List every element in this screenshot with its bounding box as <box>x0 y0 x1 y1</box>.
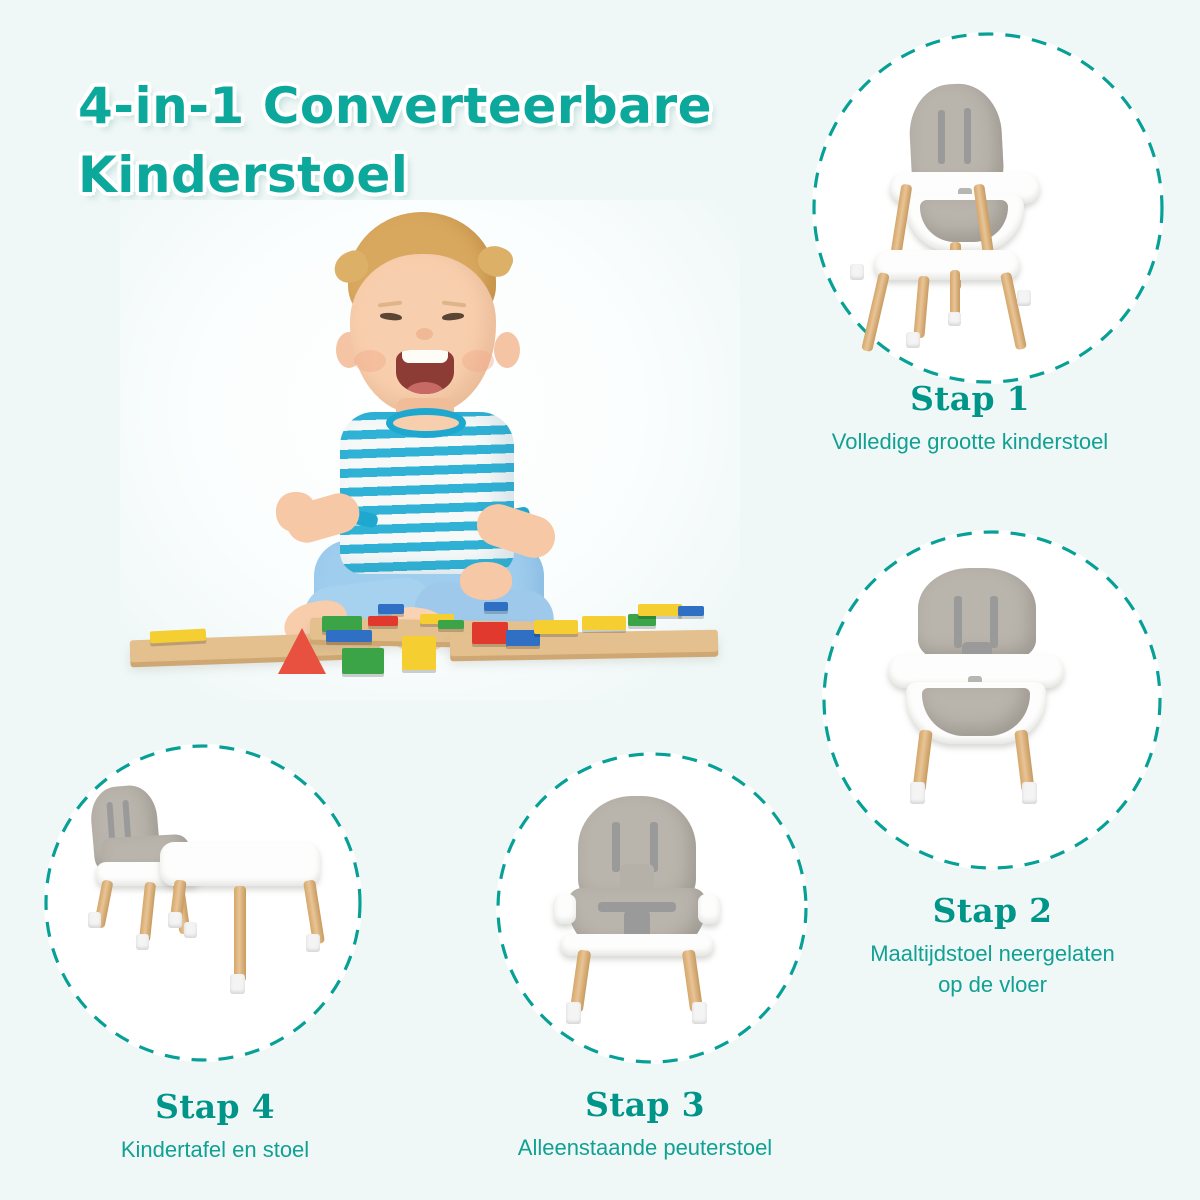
chair-foot-tip <box>906 332 920 348</box>
step-1-description: Volledige grootte kinderstoel <box>790 426 1150 457</box>
full-size-high-chair-illustration <box>812 32 1164 384</box>
step-4-label: Stap 4 <box>50 1088 380 1126</box>
chair-foot-tip <box>910 782 925 804</box>
step-1-description-line-1: Volledige grootte kinderstoel <box>790 426 1150 457</box>
step-3-image-circle <box>496 752 808 1064</box>
step-4-image-circle <box>44 744 362 1062</box>
toddler-cheek-left <box>354 350 386 372</box>
chair-foot-tip <box>1017 290 1031 306</box>
chair-foot-tip <box>88 912 101 928</box>
toy-block <box>378 604 404 614</box>
chair-leg-lower-left <box>861 272 890 352</box>
chair-leg-lower-center <box>950 270 960 318</box>
toddler-teeth <box>402 350 448 363</box>
standalone-toddler-chair-illustration <box>496 752 808 1064</box>
step-2-description: Maaltijdstoel neergelaten op de vloer <box>820 938 1165 1000</box>
chair-foot-tip <box>948 312 961 326</box>
harness-chest-pad <box>620 864 654 890</box>
step-1-image-circle <box>812 32 1164 384</box>
harness-strap-right <box>990 596 998 648</box>
toy-block <box>638 604 682 616</box>
step-2-image-circle <box>822 530 1162 870</box>
harness-strap-right <box>964 108 971 164</box>
harness-strap-left <box>938 110 945 164</box>
wooden-shape-toys <box>120 598 740 688</box>
toy-block <box>582 616 626 630</box>
toy-block <box>402 636 436 670</box>
step-2-caption: Stap 2 Maaltijdstoel neergelaten op de v… <box>820 892 1165 1000</box>
table-foot-tip <box>168 912 182 928</box>
step-1-label: Stap 1 <box>790 380 1150 418</box>
step-3-label: Stap 3 <box>480 1086 810 1124</box>
step-3-description-line-1: Alleenstaande peuterstoel <box>480 1132 810 1163</box>
toy-block <box>472 622 508 644</box>
toy-block <box>534 620 578 634</box>
table-top <box>160 842 320 886</box>
step-3-description: Alleenstaande peuterstoel <box>480 1132 810 1163</box>
toddler-fist-left <box>276 492 316 532</box>
chair-foot-tip <box>136 934 149 950</box>
toy-block <box>678 606 704 616</box>
step-4-caption: Stap 4 Kindertafel en stoel <box>50 1088 380 1165</box>
toy-block <box>368 616 398 626</box>
toddler-hand-right <box>460 562 512 600</box>
chair-armrest-left <box>554 894 576 924</box>
toddler-ear-right <box>494 332 520 368</box>
step-4-description-line-1: Kindertafel en stoel <box>50 1134 380 1165</box>
chair-armrest-right <box>698 894 720 924</box>
chair-foot-tip <box>850 264 864 280</box>
toy-block <box>438 620 464 629</box>
harness-strap-left <box>954 596 962 648</box>
chair-foot-tip <box>184 922 197 938</box>
lowered-feeding-chair-illustration <box>822 530 1162 870</box>
step-2-label: Stap 2 <box>820 892 1165 930</box>
step-2-description-line-2: op de vloer <box>820 969 1165 1000</box>
kids-table-and-chair-illustration <box>44 744 362 1062</box>
toy-block <box>326 630 372 642</box>
step-4-description: Kindertafel en stoel <box>50 1134 380 1165</box>
chair-leg-lower-right <box>1000 272 1027 351</box>
toy-triangle-block <box>278 628 326 674</box>
toy-block <box>484 602 508 611</box>
toddler-cheek-right <box>462 350 494 372</box>
step-1-caption: Stap 1 Volledige grootte kinderstoel <box>790 380 1150 457</box>
step-3-caption: Stap 3 Alleenstaande peuterstoel <box>480 1086 810 1163</box>
harness-strap-left <box>612 822 620 872</box>
page-title-line-1: 4-in-1 Converteerbare <box>78 72 718 141</box>
table-leg-front-left <box>234 886 246 982</box>
hero-photo-toddler <box>120 200 740 700</box>
toddler-nose <box>416 328 433 340</box>
chair-leg-lower-inner <box>913 276 929 339</box>
chair-foot-tip <box>566 1002 581 1024</box>
chair-foot-tip <box>692 1002 707 1024</box>
table-foot-tip <box>306 934 320 952</box>
page-title: 4-in-1 Converteerbare Kinderstoel <box>78 72 718 210</box>
toddler-tongue <box>406 382 444 394</box>
chair-footrest-platform <box>874 250 1020 280</box>
toddler-shirt-collar <box>386 408 466 438</box>
table-foot-tip <box>230 974 245 994</box>
chair-foot-tip <box>1022 782 1037 804</box>
toy-block <box>342 648 384 674</box>
step-2-description-line-1: Maaltijdstoel neergelaten <box>820 938 1165 969</box>
toddler-mouth <box>396 350 454 394</box>
